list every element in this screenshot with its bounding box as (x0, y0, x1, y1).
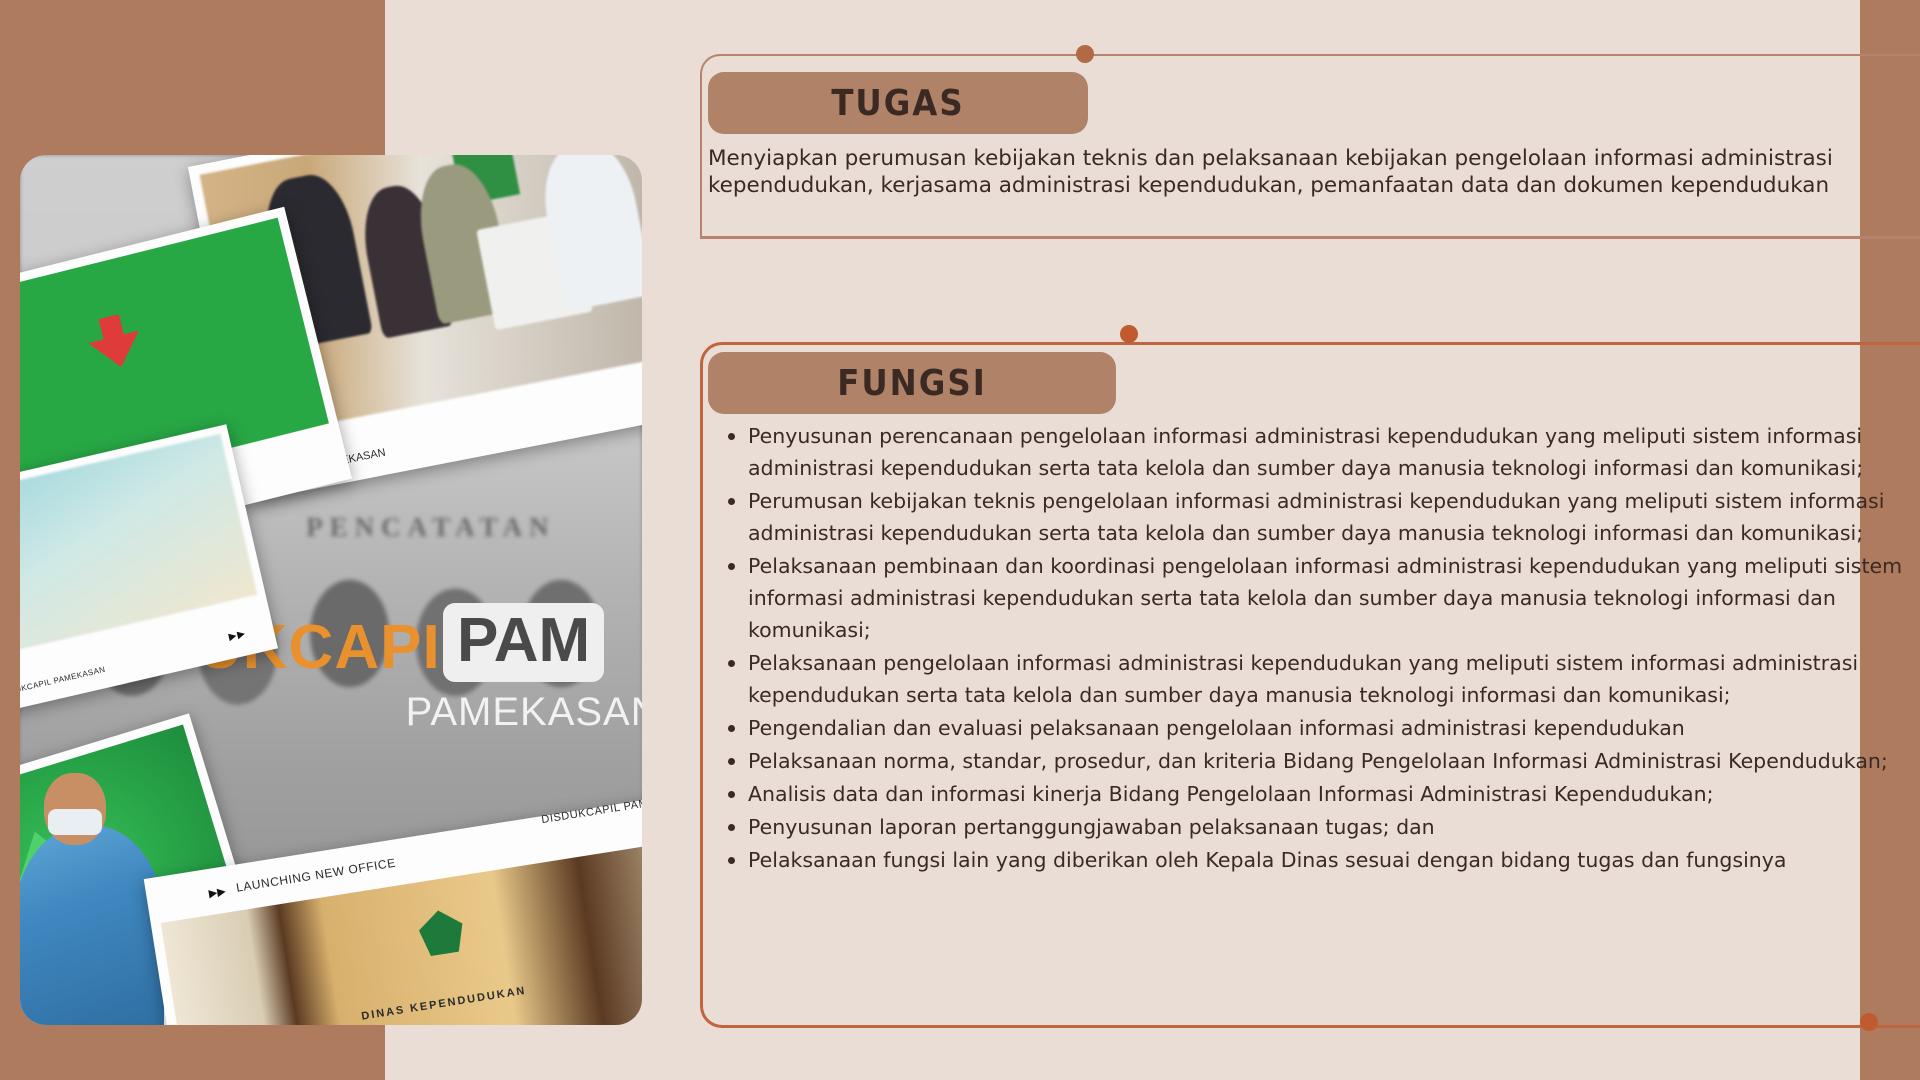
slide-root: PENCATATAN DISDUKCAPIL PAM PAMEKASAN ▶▶ … (0, 0, 1920, 1080)
government-seal-icon (416, 907, 466, 957)
fungsi-list-item: Penyusunan perencanaan pengelolaan infor… (748, 420, 1908, 484)
polaroid-launch-photo: DINAS KEPENDUDUKAN D A N PENCATATAN SIPI… (161, 839, 642, 1025)
collage-title-chip-pam: PAM (443, 603, 604, 682)
banner-line-2: D A N (413, 1024, 458, 1025)
face-mask-icon (48, 809, 102, 835)
polaroid-teal-photo (20, 434, 257, 659)
fungsi-list-item: Perumusan kebijakan teknis pengelolaan i… (748, 485, 1908, 549)
photo-collage: PENCATATAN DISDUKCAPIL PAM PAMEKASAN ▶▶ … (20, 155, 642, 1025)
banner-line-1: DINAS KEPENDUDUKAN (361, 985, 528, 1023)
play-arrows-icon: ▶▶ (228, 628, 247, 643)
fungsi-list: Penyusunan perencanaan pengelolaan infor… (718, 420, 1908, 877)
fungsi-connector-dot-icon (1120, 325, 1138, 343)
play-arrows-icon: ▶▶ (208, 885, 227, 900)
fungsi-list-item: Penyusunan laporan pertanggungjawaban pe… (748, 811, 1908, 843)
tugas-connector-dot-icon (1076, 45, 1094, 63)
collage-subtitle-pamekasan: PAMEKASAN (406, 690, 642, 735)
tugas-body-text: Menyiapkan perumusan kebijakan teknis da… (708, 145, 1858, 199)
fungsi-end-dot-icon (1860, 1013, 1878, 1031)
photo-collage-card: PENCATATAN DISDUKCAPIL PAM PAMEKASAN ▶▶ … (20, 155, 642, 1025)
fungsi-heading-pill: FUNGSI (708, 352, 1116, 414)
fungsi-list-item: Pelaksanaan norma, standar, prosedur, da… (748, 745, 1908, 777)
fungsi-list-item: Pengendalian dan evaluasi pelaksanaan pe… (748, 712, 1908, 744)
backdrop-word-pencatatan: PENCATATAN (306, 512, 556, 543)
tugas-heading-pill: TUGAS (708, 72, 1088, 134)
down-arrow-icon (83, 310, 146, 373)
person-blue-batik (20, 825, 164, 1025)
fungsi-list-item: Pelaksanaan pembinaan dan koordinasi pen… (748, 550, 1908, 646)
fungsi-list-item: Analisis data dan informasi kinerja Bida… (748, 778, 1908, 810)
fungsi-list-item: Pelaksanaan fungsi lain yang diberikan o… (748, 844, 1908, 876)
fungsi-list-item: Pelaksanaan pengelolaan informasi admini… (748, 647, 1908, 711)
